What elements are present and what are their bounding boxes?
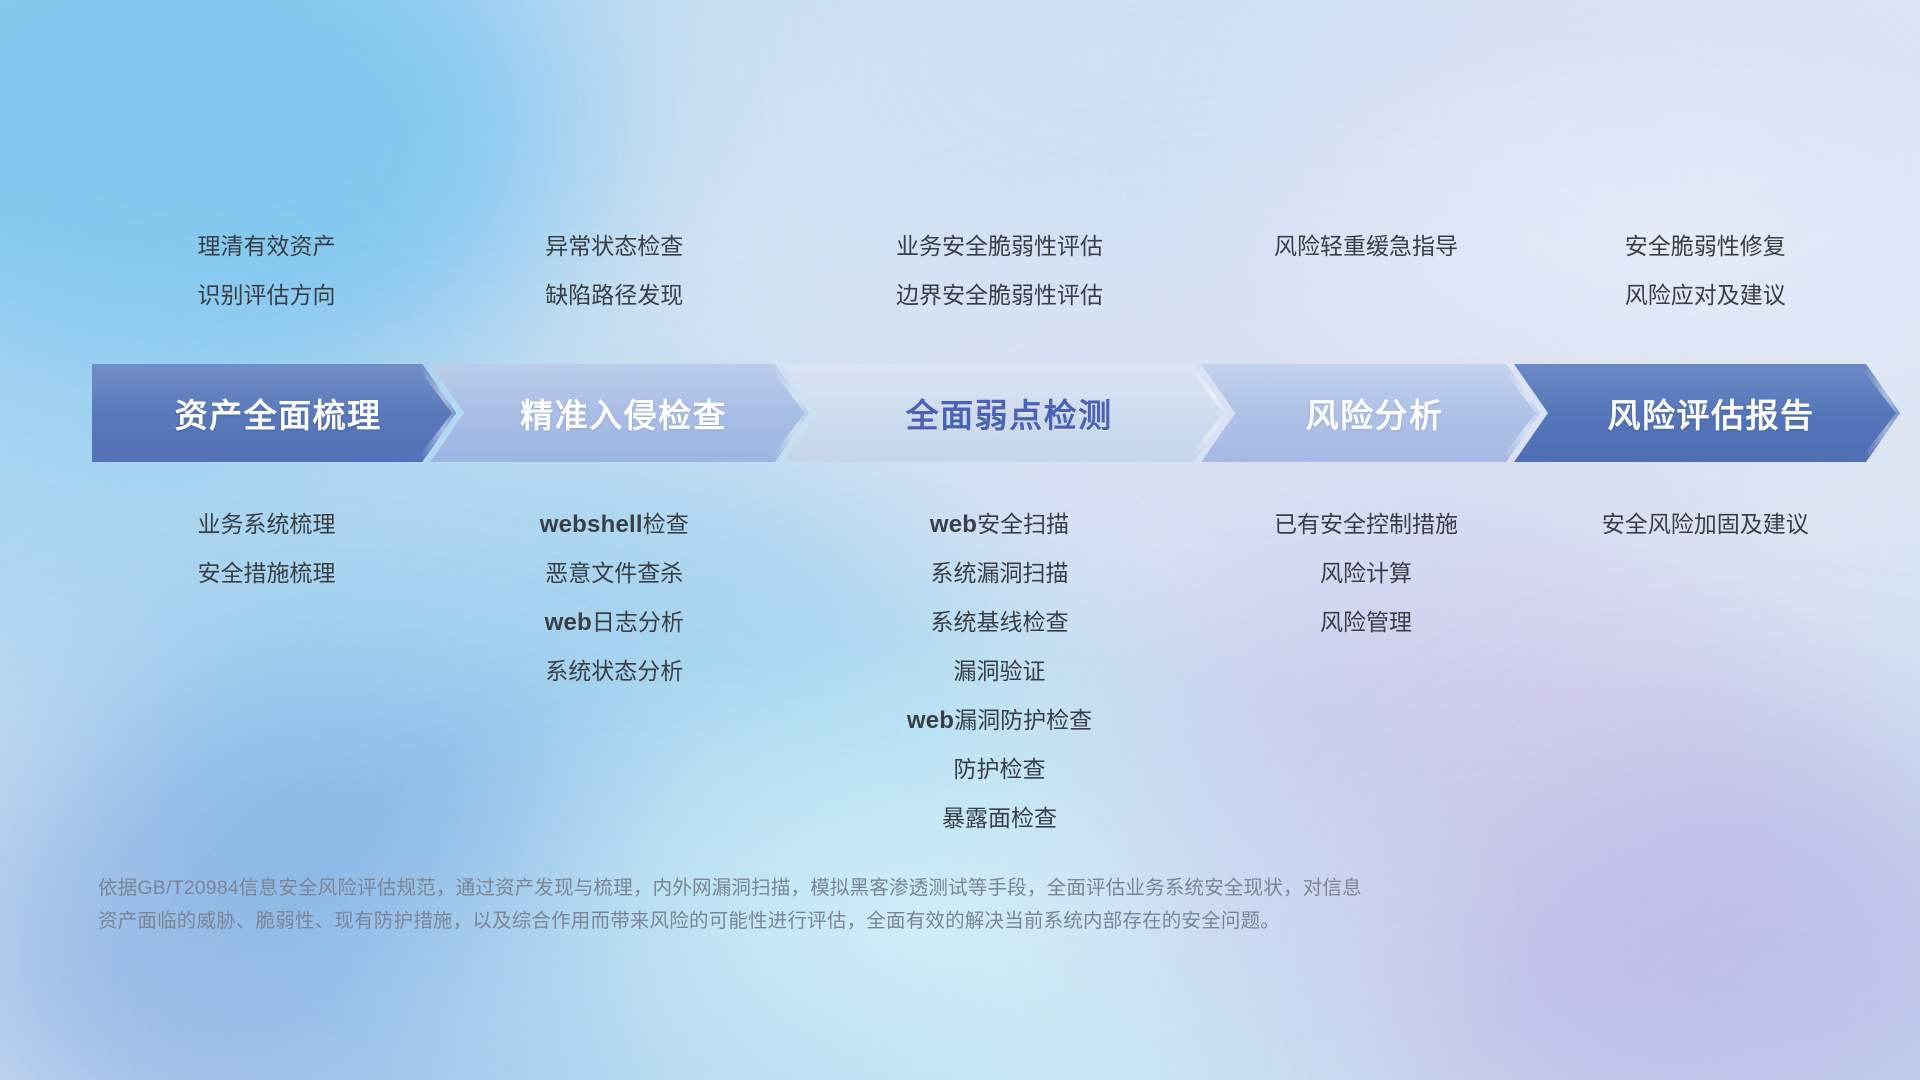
top-caption-line: 风险轻重缓急指导 [1208,222,1525,271]
detail-item-latin: web [930,511,977,538]
top-caption-line: 异常状态检查 [437,222,792,271]
detail-item-label: 业务系统梳理 [197,511,335,537]
detail-item: web日志分析 [437,598,792,647]
detail-item: 系统漏洞扫描 [792,549,1208,598]
detail-item-label: 漏洞验证 [954,658,1046,684]
detail-item-label: 日志分析 [592,609,684,635]
detail-item: 系统状态分析 [437,647,792,696]
detail-item: 安全风险加固及建议 [1525,500,1886,549]
process-stage-banner: 资产全面梳理精准入侵检查全面弱点检测风险分析风险评估报告 [92,364,1874,462]
top-caption-column-asset-inventory: 理清有效资产识别评估方向 [96,222,437,320]
detail-item-label: 安全措施梳理 [197,560,335,586]
detail-item-label: 风险管理 [1320,609,1412,635]
detail-item-latin: web [545,609,592,636]
detail-item-label: 检查 [643,511,689,537]
top-caption-column-intrusion-check: 异常状态检查缺陷路径发现 [437,222,792,320]
detail-item-label: 防护检查 [954,756,1046,782]
top-caption-line: 边界安全脆弱性评估 [792,271,1208,320]
detail-item-label: 风险计算 [1320,560,1412,586]
stage-title: 风险评估报告 [1599,389,1814,437]
top-caption-column-risk-report: 安全脆弱性修复风险应对及建议 [1525,222,1886,320]
detail-item-label: 系统漏洞扫描 [931,560,1069,586]
detail-item: 系统基线检查 [792,598,1208,647]
stage-title: 资产全面梳理 [167,389,382,437]
stage-chevron-asset-inventory[interactable]: 资产全面梳理 [92,364,456,462]
top-caption-line: 业务安全脆弱性评估 [792,222,1208,271]
top-caption-line: 风险应对及建议 [1525,271,1886,320]
detail-item: webshell检查 [437,500,792,549]
detail-item: 恶意文件查杀 [437,549,792,598]
detail-item-label: 安全风险加固及建议 [1602,511,1809,537]
risk-assessment-process-infographic: 理清有效资产识别评估方向异常状态检查缺陷路径发现业务安全脆弱性评估边界安全脆弱性… [0,0,1920,1080]
top-caption-column-weakness-detection: 业务安全脆弱性评估边界安全脆弱性评估 [792,222,1208,320]
stage-chevron-risk-report[interactable]: 风险评估报告 [1514,364,1900,462]
top-captions-row: 理清有效资产识别评估方向异常状态检查缺陷路径发现业务安全脆弱性评估边界安全脆弱性… [96,222,1886,320]
top-caption-line: 理清有效资产 [96,222,437,271]
detail-item: 已有安全控制措施 [1208,500,1525,549]
detail-item: 业务系统梳理 [96,500,437,549]
stage-chevron-intrusion-check[interactable]: 精准入侵检查 [430,364,809,462]
detail-item: 风险管理 [1208,598,1525,647]
footer-line-2: 资产面临的威胁、脆弱性、现有防护措施，以及综合作用而带来风险的可能性进行评估，全… [98,905,1628,938]
detail-item-label: 恶意文件查杀 [545,560,683,586]
detail-item-label: 漏洞防护检查 [954,707,1092,733]
detail-column-intrusion-check: webshell检查恶意文件查杀web日志分析系统状态分析 [437,500,792,696]
detail-item-latin: webshell [540,511,643,538]
detail-item-label: 已有安全控制措施 [1274,511,1458,537]
detail-item-label: 系统状态分析 [545,658,683,684]
stage-chevron-weakness-detection[interactable]: 全面弱点检测 [783,364,1227,462]
detail-item: 暴露面检查 [792,794,1208,843]
top-caption-line: 安全脆弱性修复 [1525,222,1886,271]
detail-column-asset-inventory: 业务系统梳理安全措施梳理 [96,500,437,598]
detail-item-label: 安全扫描 [977,511,1069,537]
detail-item: web漏洞防护检查 [792,696,1208,745]
detail-item-latin: web [907,707,954,734]
detail-item: web安全扫描 [792,500,1208,549]
detail-item-label: 系统基线检查 [931,609,1069,635]
detail-item: 安全措施梳理 [96,549,437,598]
footer-description: 依据GB/T20984信息安全风险评估规范，通过资产发现与梳理，内外网漏洞扫描，… [98,872,1628,938]
chevron-arrow-icon [1864,364,1902,462]
detail-column-risk-analysis: 已有安全控制措施风险计算风险管理 [1208,500,1525,647]
bottom-details-row: 业务系统梳理安全措施梳理webshell检查恶意文件查杀web日志分析系统状态分… [96,500,1886,843]
detail-item: 风险计算 [1208,549,1525,598]
stage-title: 全面弱点检测 [898,389,1113,437]
top-caption-column-risk-analysis: 风险轻重缓急指导 [1208,222,1525,320]
stage-chevron-risk-analysis[interactable]: 风险分析 [1201,364,1540,462]
detail-item: 漏洞验证 [792,647,1208,696]
top-caption-line: 识别评估方向 [96,271,437,320]
detail-column-weakness-detection: web安全扫描系统漏洞扫描系统基线检查漏洞验证web漏洞防护检查防护检查暴露面检… [792,500,1208,843]
detail-item-label: 暴露面检查 [942,805,1057,831]
footer-line-1: 依据GB/T20984信息安全风险评估规范，通过资产发现与梳理，内外网漏洞扫描，… [98,872,1628,905]
detail-column-risk-report: 安全风险加固及建议 [1525,500,1886,549]
top-caption-line: 缺陷路径发现 [437,271,792,320]
detail-item: 防护检查 [792,745,1208,794]
stage-title: 精准入侵检查 [512,389,727,437]
stage-title: 风险分析 [1298,389,1444,437]
